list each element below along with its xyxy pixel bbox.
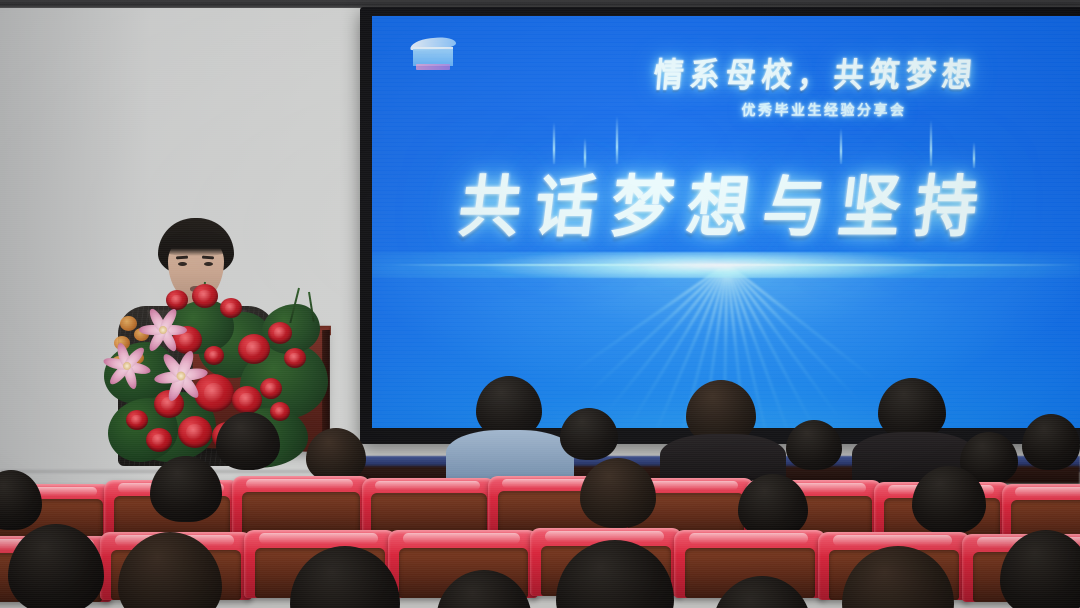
audience-seating	[0, 404, 1080, 608]
audience-head	[1022, 414, 1080, 470]
slide-headline: 情系母校，共筑梦想	[652, 47, 980, 96]
lily-bloom	[151, 351, 211, 400]
led-video-wall: 情系母校，共筑梦想 优秀毕业生经验分享会 共话梦想与坚持	[372, 16, 1080, 428]
audience-head	[306, 428, 366, 482]
audience-head	[476, 376, 542, 438]
audience-head	[560, 408, 618, 460]
slide-main-title: 共话梦想与坚持	[372, 152, 1080, 249]
auditorium-seat	[362, 478, 496, 536]
audience-head	[216, 412, 280, 470]
slide-header-block: 情系母校，共筑梦想 优秀毕业生经验分享会	[372, 50, 1080, 120]
horizon-line	[390, 264, 1080, 266]
lily-bloom	[100, 344, 154, 388]
auditorium-seat	[232, 476, 370, 536]
audience-head	[150, 456, 222, 522]
auditorium-scene: 情系母校，共筑梦想 优秀毕业生经验分享会 共话梦想与坚持	[0, 0, 1080, 608]
audience-head	[786, 420, 842, 470]
audience-head	[878, 378, 946, 440]
slide-subheadline: 优秀毕业生经验分享会	[568, 100, 1080, 120]
